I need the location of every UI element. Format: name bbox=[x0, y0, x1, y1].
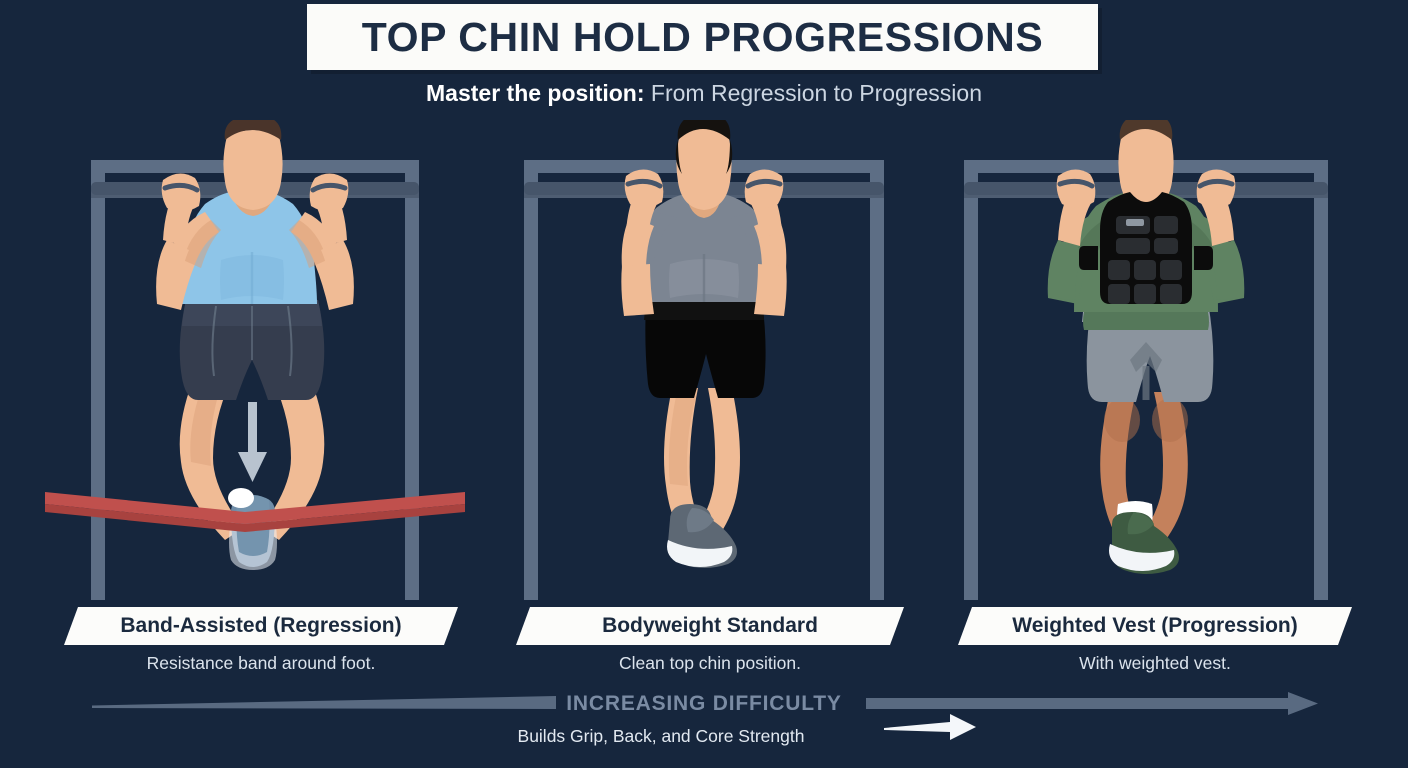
hand-grip-right bbox=[1197, 169, 1236, 207]
hand-grip-right bbox=[745, 169, 784, 207]
label-text: Weighted Vest (Progression) bbox=[994, 614, 1316, 638]
hand-grip-left bbox=[162, 173, 201, 211]
strength-note: Builds Grip, Back, and Core Strength bbox=[0, 726, 1408, 747]
panel-band-assisted bbox=[45, 120, 465, 600]
hand-grip-left bbox=[1057, 169, 1096, 207]
figure-band-assisted bbox=[45, 120, 465, 600]
title-banner: TOP CHIN HOLD PROGRESSIONS bbox=[307, 4, 1098, 70]
figure-weighted-vest bbox=[936, 120, 1356, 600]
panel-bodyweight-standard bbox=[494, 120, 914, 600]
subtitle-bold: Master the position: bbox=[426, 80, 645, 106]
label-banner-weighted-vest: Weighted Vest (Progression) bbox=[958, 607, 1352, 645]
page-title: TOP CHIN HOLD PROGRESSIONS bbox=[362, 14, 1044, 61]
increasing-difficulty-label: INCREASING DIFFICULTY bbox=[0, 692, 1408, 716]
hand-grip-right bbox=[310, 173, 349, 211]
infographic-root: TOP CHIN HOLD PROGRESSIONS Master the po… bbox=[0, 0, 1408, 768]
caption-bodyweight-standard: Clean top chin position. bbox=[516, 653, 904, 674]
hand-grip-left bbox=[625, 169, 664, 207]
caption-weighted-vest: With weighted vest. bbox=[958, 653, 1352, 674]
down-arrow-icon bbox=[238, 402, 267, 482]
athlete-body bbox=[1048, 120, 1245, 574]
caption-band-assisted: Resistance band around foot. bbox=[64, 653, 458, 674]
athlete-body bbox=[621, 120, 786, 568]
label-text: Bodyweight Standard bbox=[584, 614, 836, 638]
panel-weighted-vest bbox=[936, 120, 1356, 600]
label-text: Band-Assisted (Regression) bbox=[102, 614, 419, 638]
figure-bodyweight-standard bbox=[494, 120, 914, 600]
label-banner-bodyweight-standard: Bodyweight Standard bbox=[516, 607, 904, 645]
subtitle-rest: From Regression to Progression bbox=[645, 80, 982, 106]
subtitle: Master the position: From Regression to … bbox=[0, 80, 1408, 107]
head bbox=[223, 120, 282, 210]
label-banner-band-assisted: Band-Assisted (Regression) bbox=[64, 607, 458, 645]
head bbox=[676, 120, 733, 210]
athlete-body bbox=[156, 120, 354, 570]
